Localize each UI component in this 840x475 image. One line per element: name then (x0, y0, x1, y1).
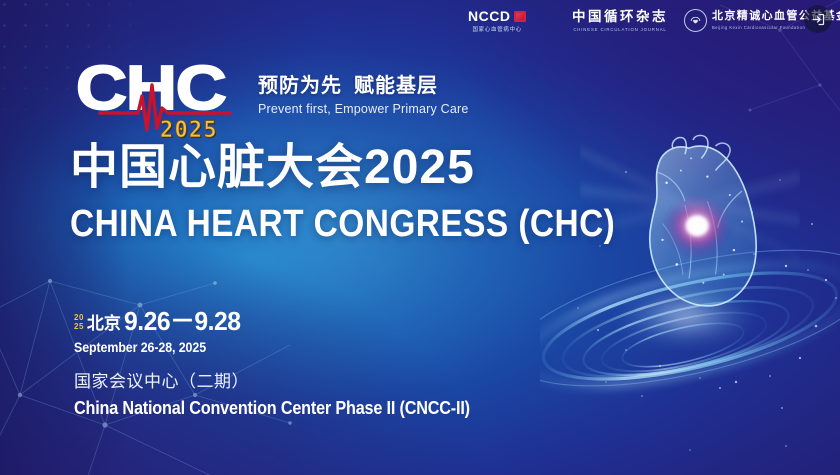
tagline-english: Prevent first, Empower Primary Care (258, 102, 469, 116)
logo-chinese-circulation-journal[interactable]: 中国循环杂志 CHINESE CIRCULATION JOURNAL (572, 10, 668, 32)
page-title-chinese: 中国心脏大会2025 (70, 142, 475, 195)
nccd-wordmark-row: NCCD (468, 9, 526, 23)
ccj-chinese-name: 中国循环杂志 (572, 10, 668, 24)
tagline-chinese-part1: 预防为先 (258, 75, 342, 97)
heart-hands-icon (689, 14, 702, 27)
chc-logo-lockup: CHC 2025 (76, 58, 246, 140)
tagline: 预防为先赋能基层 Prevent first, Empower Primary … (258, 75, 469, 116)
event-date-range: 9.26－9.28 (124, 308, 241, 334)
nccd-acronym: NCCD (468, 9, 510, 23)
page-title-english: CHINA HEART CONGRESS (CHC) (70, 205, 615, 245)
chc-year: 2025 (160, 120, 218, 142)
event-city: 北京 (87, 315, 121, 332)
event-date-row: 20 25 北京 9.26－9.28 (74, 308, 247, 334)
venue-english: China National Convention Center Phase I… (74, 398, 470, 420)
tagline-chinese: 预防为先赋能基层 (258, 75, 469, 98)
nccd-square-icon (514, 11, 526, 22)
event-date-english: September 26-28, 2025 (74, 340, 206, 355)
foundation-badge-icon (684, 9, 707, 32)
partner-logo-bar: NCCD 国家心血管病中心 中国循环杂志 CHINESE CIRCULATION… (0, 0, 840, 46)
enter-button[interactable] (804, 5, 832, 33)
tagline-chinese-part2: 赋能基层 (354, 75, 438, 97)
enter-login-icon (811, 12, 826, 27)
ccj-english-name: CHINESE CIRCULATION JOURNAL (573, 27, 666, 32)
logo-nccd[interactable]: NCCD 国家心血管病中心 (468, 9, 526, 33)
year-stacked: 20 25 (74, 314, 84, 331)
nccd-chinese-name: 国家心血管病中心 (472, 25, 522, 33)
chc-2025-poster: NCCD 国家心血管病中心 中国循环杂志 CHINESE CIRCULATION… (0, 0, 840, 475)
year-bottom: 25 (74, 323, 84, 332)
venue-chinese: 国家会议中心（二期） (74, 372, 249, 392)
